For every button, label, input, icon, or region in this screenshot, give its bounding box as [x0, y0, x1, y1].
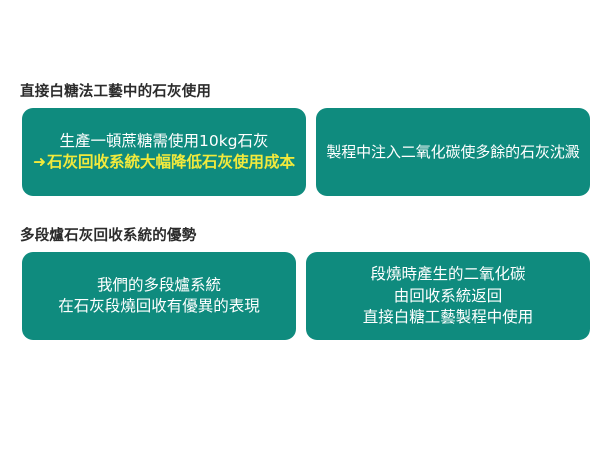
- card-line: 在石灰段燒回收有優異的表現: [58, 296, 260, 317]
- slide-canvas: 直接白糖法工藝中的石灰使用 生產一頓蔗糖需使用10kg石灰 ➜石灰回收系統大幅降…: [0, 0, 600, 450]
- card-line: 由回收系統返回: [394, 286, 503, 307]
- section-msf-advantages: 多段爐石灰回收系統的優勢 我們的多段爐系統 在石灰段燒回收有優異的表現 段燒時產…: [0, 228, 600, 340]
- card-row-1: 生產一頓蔗糖需使用10kg石灰 ➜石灰回收系統大幅降低石灰使用成本 製程中注入二…: [0, 108, 600, 196]
- card-lime-consumption[interactable]: 生產一頓蔗糖需使用10kg石灰 ➜石灰回收系統大幅降低石灰使用成本: [22, 108, 306, 196]
- card-line: 段燒時產生的二氧化碳: [370, 264, 525, 285]
- card-row-2: 我們的多段爐系統 在石灰段燒回收有優異的表現 段燒時產生的二氧化碳 由回收系統返…: [0, 252, 600, 340]
- card-msf-performance[interactable]: 我們的多段爐系統 在石灰段燒回收有優異的表現: [22, 252, 296, 340]
- card-co2-injection[interactable]: 製程中注入二氧化碳使多餘的石灰沈澱: [316, 108, 590, 196]
- card-line: 我們的多段爐系統: [97, 275, 221, 296]
- card-line: 生產一頓蔗糖需使用10kg石灰: [59, 131, 268, 152]
- section-lime-usage: 直接白糖法工藝中的石灰使用 生產一頓蔗糖需使用10kg石灰 ➜石灰回收系統大幅降…: [0, 84, 600, 196]
- section-heading-2: 多段爐石灰回收系統的優勢: [20, 228, 600, 245]
- card-co2-recycle[interactable]: 段燒時產生的二氧化碳 由回收系統返回 直接白糖工藝製程中使用: [306, 252, 590, 340]
- card-line: 製程中注入二氧化碳使多餘的石灰沈澱: [326, 142, 579, 163]
- card-line: 直接白糖工藝製程中使用: [363, 307, 534, 328]
- card-line-highlighted: ➜石灰回收系統大幅降低石灰使用成本: [33, 152, 295, 173]
- section-heading-1: 直接白糖法工藝中的石灰使用: [20, 84, 600, 101]
- arrow-right-icon: ➜: [33, 153, 46, 171]
- card-line-text: 石灰回收系統大幅降低石灰使用成本: [47, 153, 295, 171]
